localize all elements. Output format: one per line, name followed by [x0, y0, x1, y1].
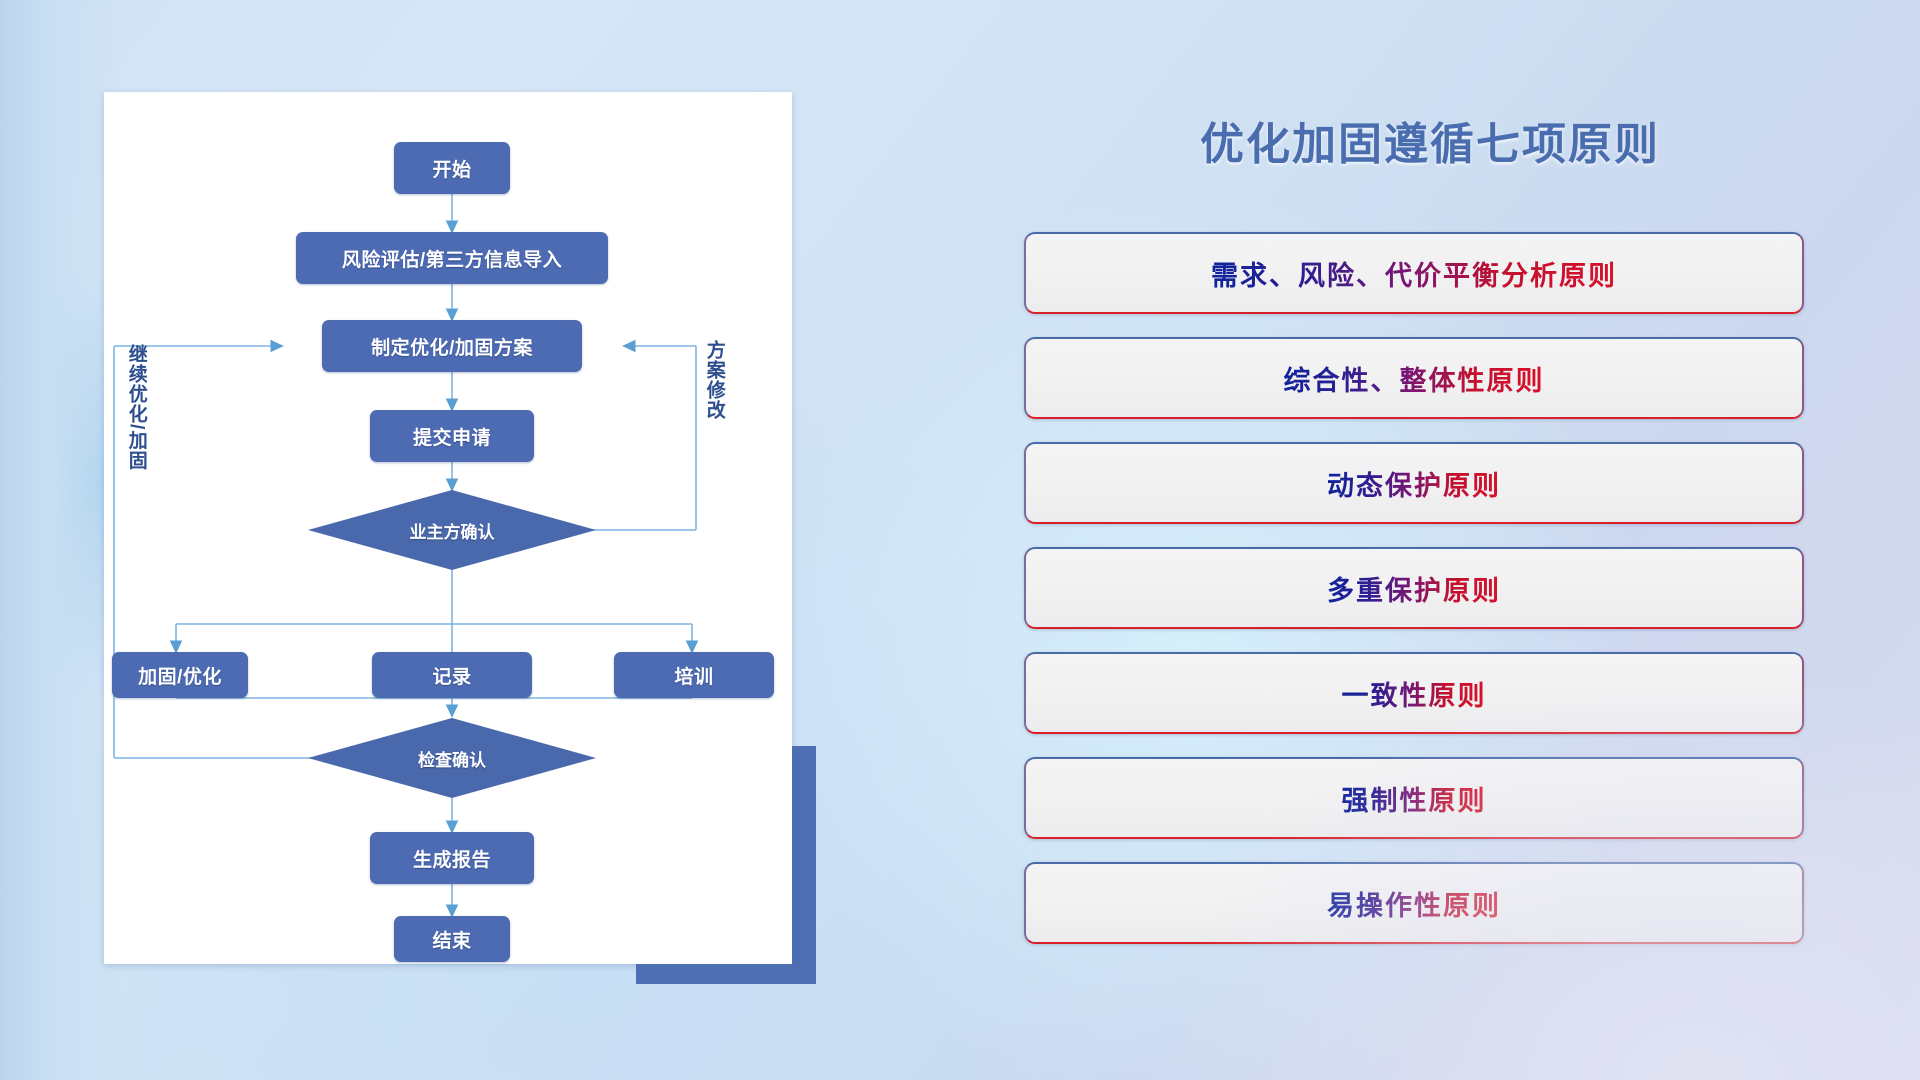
flow-node-generate-report[interactable]: 生成报告: [370, 832, 534, 884]
principles-list: 需求、风险、代价平衡分析原则 综合性、整体性原则 动态保护原则 多重保护原则 一…: [1024, 232, 1804, 967]
principle-card-4[interactable]: 多重保护原则: [1024, 547, 1804, 629]
flow-label-plan-revision: 方案修改: [704, 340, 724, 420]
diamond-shape-check: [308, 718, 596, 798]
flowchart-canvas: 继续优化/加固 方案修改 开始 风险评估/第三方信息导入 制定优化/加固方案 提…: [104, 92, 792, 964]
flow-node-reinforce-optimize[interactable]: 加固/优化: [112, 652, 248, 698]
flow-node-training[interactable]: 培训: [614, 652, 774, 698]
flow-node-make-plan[interactable]: 制定优化/加固方案: [322, 320, 582, 372]
principle-card-7-label: 易操作性原则: [1327, 884, 1501, 923]
principle-card-2[interactable]: 综合性、整体性原则: [1024, 337, 1804, 419]
flow-node-end[interactable]: 结束: [394, 916, 510, 962]
flow-label-continue-optimize: 继续优化/加固: [126, 344, 146, 470]
flow-node-start[interactable]: 开始: [394, 142, 510, 194]
principle-card-1[interactable]: 需求、风险、代价平衡分析原则: [1024, 232, 1804, 314]
diamond-shape-owner: [308, 490, 596, 570]
flow-node-submit-application[interactable]: 提交申请: [370, 410, 534, 462]
flow-node-risk-assessment[interactable]: 风险评估/第三方信息导入: [296, 232, 608, 284]
flow-node-owner-confirm[interactable]: 业主方确认: [308, 490, 596, 570]
principle-card-6-label: 强制性原则: [1342, 779, 1487, 818]
flow-node-record[interactable]: 记录: [372, 652, 532, 698]
flowchart-card: 继续优化/加固 方案修改 开始 风险评估/第三方信息导入 制定优化/加固方案 提…: [104, 92, 792, 964]
principle-card-5[interactable]: 一致性原则: [1024, 652, 1804, 734]
principle-card-4-label: 多重保护原则: [1327, 569, 1501, 608]
flow-node-check-confirm[interactable]: 检查确认: [308, 718, 596, 798]
principle-card-3-label: 动态保护原则: [1327, 464, 1501, 503]
principle-card-1-label: 需求、风险、代价平衡分析原则: [1211, 254, 1617, 293]
principle-card-2-label: 综合性、整体性原则: [1284, 359, 1545, 398]
principle-card-3[interactable]: 动态保护原则: [1024, 442, 1804, 524]
principles-title: 优化加固遵循七项原则: [1030, 108, 1830, 172]
principle-card-6[interactable]: 强制性原则: [1024, 757, 1804, 839]
principle-card-5-label: 一致性原则: [1342, 674, 1487, 713]
slide-root: 继续优化/加固 方案修改 开始 风险评估/第三方信息导入 制定优化/加固方案 提…: [0, 0, 1920, 1080]
principle-card-7[interactable]: 易操作性原则: [1024, 862, 1804, 944]
